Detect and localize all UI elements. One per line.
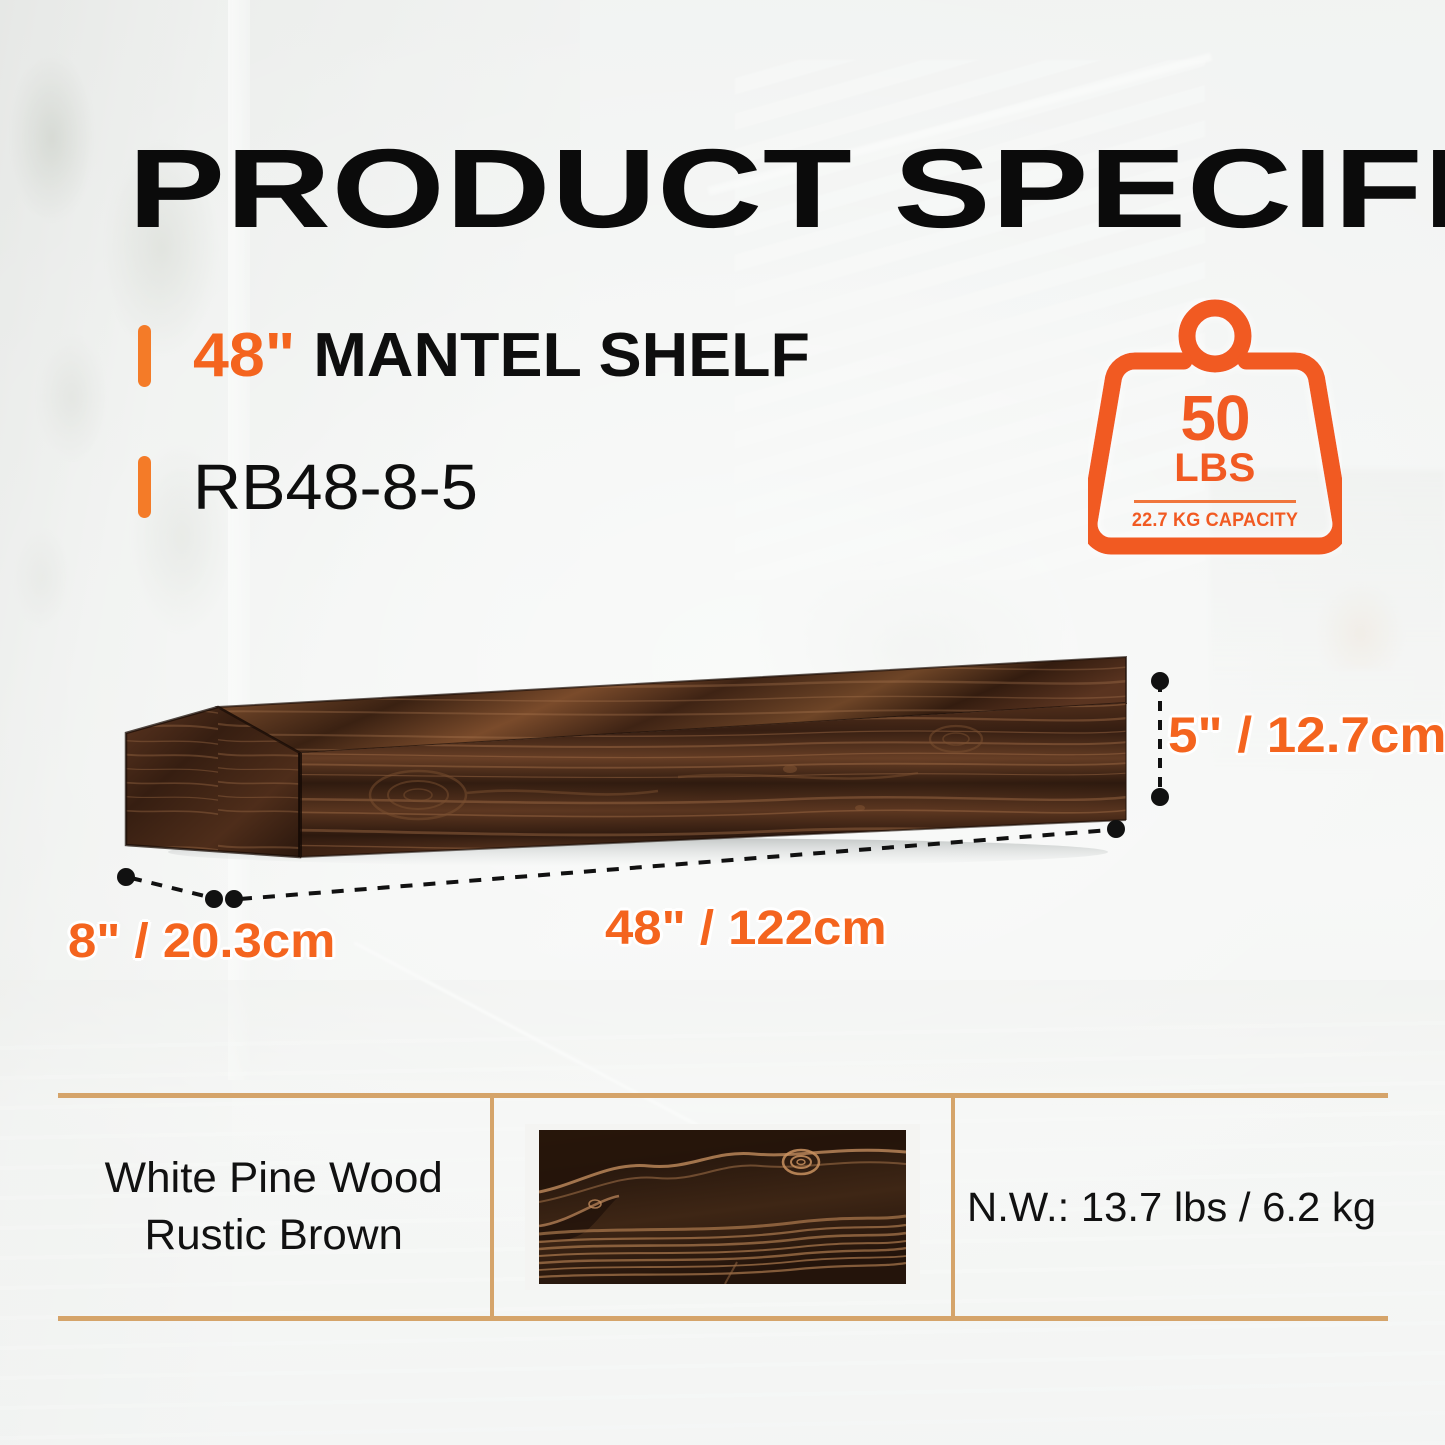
net-weight-text: N.W.: 13.7 lbs / 6.2 kg xyxy=(967,1184,1376,1231)
capacity-unit: LBS xyxy=(1088,448,1342,488)
spec-size-text: 48" MANTEL SHELF xyxy=(193,325,810,387)
material-text: White Pine Wood Rustic Brown xyxy=(105,1150,443,1264)
height-dot-top xyxy=(1151,672,1169,690)
width-dot-left xyxy=(225,890,243,908)
product-image-mantel-shelf xyxy=(118,645,1128,870)
spec-size-label: MANTEL SHELF xyxy=(295,321,810,390)
swatch-frame xyxy=(525,1124,920,1290)
dimension-width-label: 48" / 122cm xyxy=(605,905,887,953)
depth-dash-line xyxy=(131,878,209,897)
capacity-metric: 22.7 KG CAPACITY xyxy=(1094,510,1335,532)
material-line-2: Rustic Brown xyxy=(105,1207,443,1264)
material-cell: White Pine Wood Rustic Brown xyxy=(58,1098,490,1316)
swatch-cell xyxy=(494,1098,951,1316)
dimension-depth-label: 8" / 20.3cm xyxy=(68,918,335,966)
height-dot-bottom xyxy=(1151,788,1169,806)
spec-line-model: RB48-8-5 xyxy=(138,455,467,519)
material-line-1: White Pine Wood xyxy=(105,1150,443,1207)
spec-line-size: 48" MANTEL SHELF xyxy=(138,325,786,387)
strip-rule-bottom xyxy=(58,1316,1388,1321)
accent-bar-icon xyxy=(138,325,151,387)
spec-size-highlight: 48" xyxy=(193,321,295,390)
spec-model-text: RB48-8-5 xyxy=(193,455,478,519)
page-title: PRODUCT SPECIFICATIONS xyxy=(128,133,1445,245)
product-specification-image: PRODUCT SPECIFICATIONS 48" MANTEL SHELF … xyxy=(0,0,1445,1445)
wood-swatch-image xyxy=(539,1130,906,1284)
badge-divider xyxy=(1134,500,1296,503)
net-weight-cell: N.W.: 13.7 lbs / 6.2 kg xyxy=(955,1098,1388,1316)
capacity-badge: 50 LBS 22.7 KG CAPACITY xyxy=(1088,298,1342,560)
depth-dot-right xyxy=(205,890,223,908)
accent-bar-icon xyxy=(138,456,151,518)
depth-dot-left xyxy=(117,868,135,886)
info-strip: White Pine Wood Rustic Brown xyxy=(58,1093,1388,1321)
dimension-height-label: 5" / 12.7cm xyxy=(1168,710,1445,760)
capacity-value: 50 xyxy=(1088,386,1342,450)
